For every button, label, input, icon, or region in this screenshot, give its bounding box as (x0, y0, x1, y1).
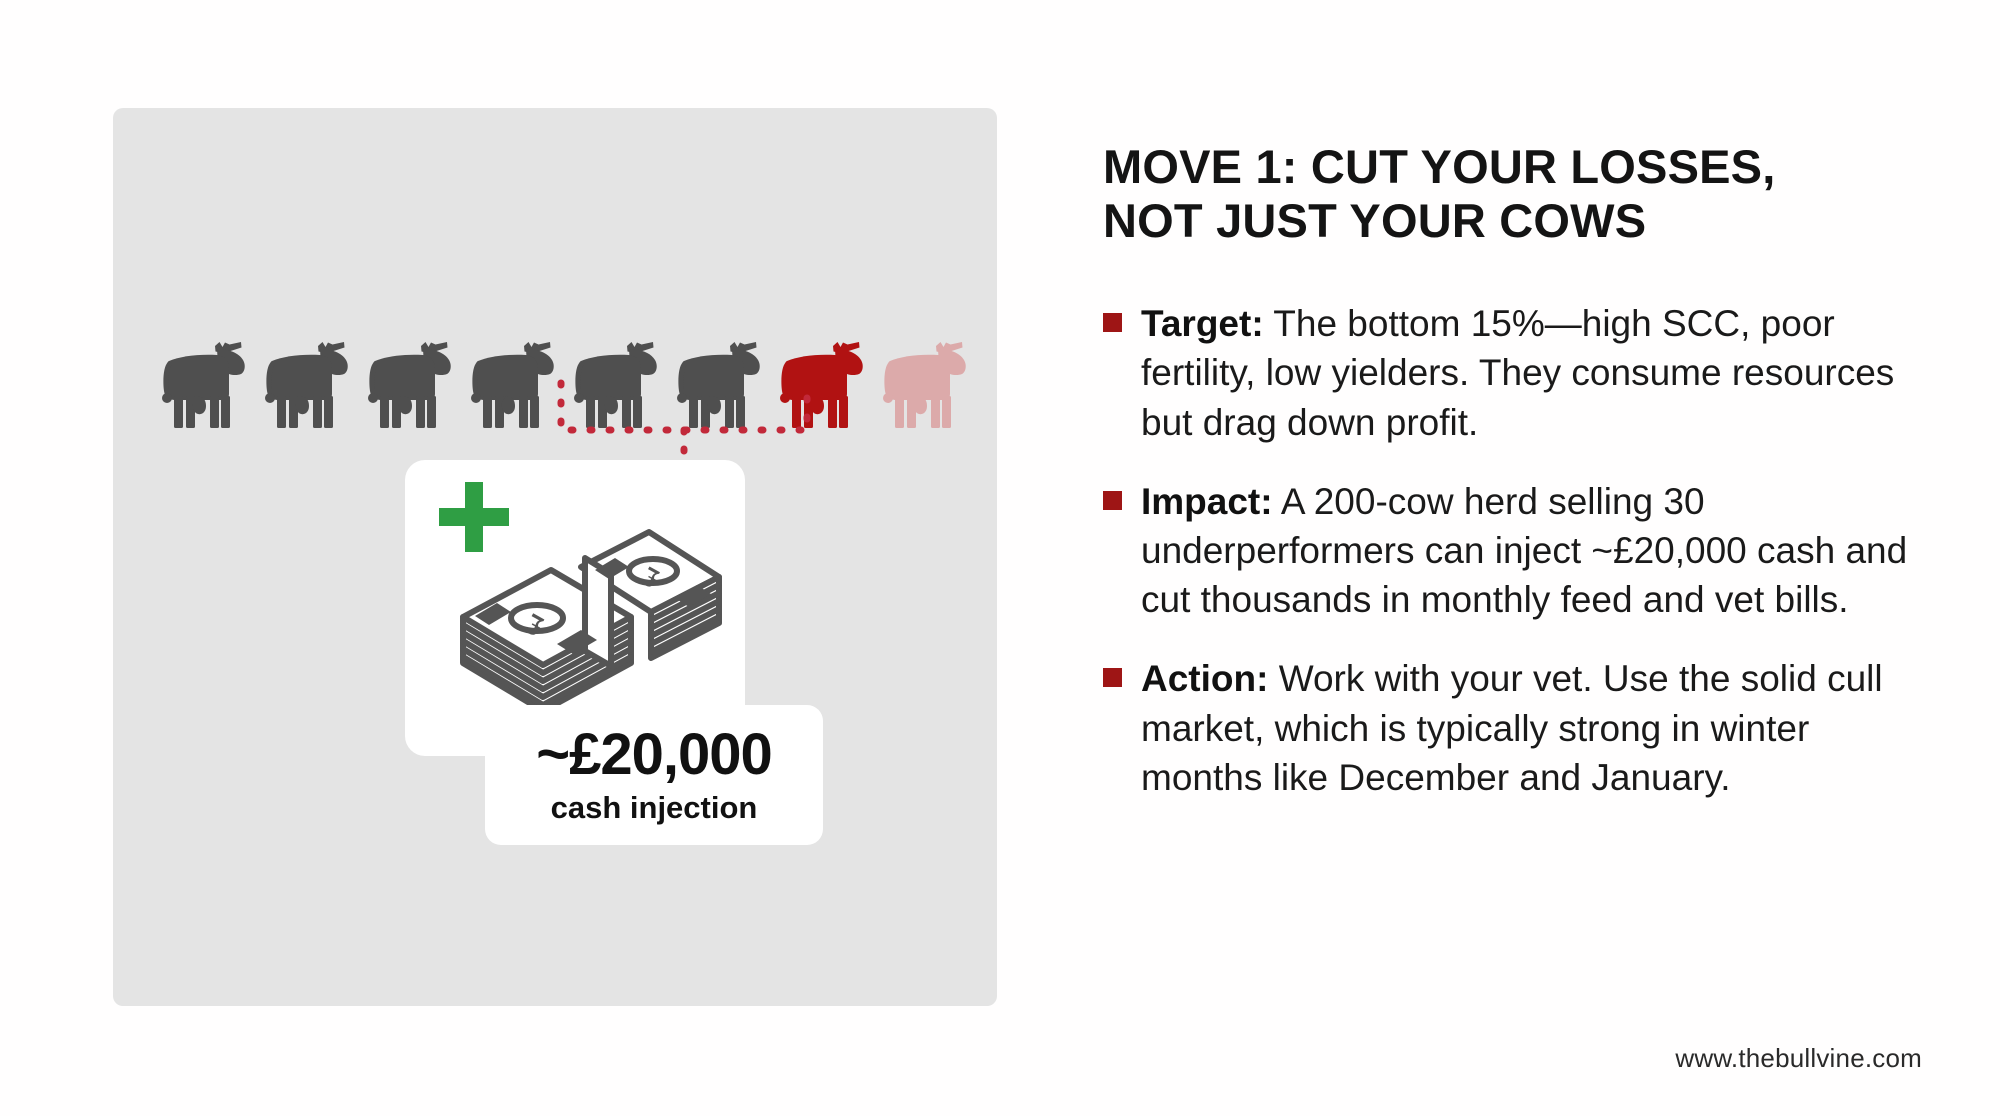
cow-1-keep (155, 330, 249, 434)
cow-5-keep (567, 330, 661, 434)
bullet-text: Target: The bottom 15%—high SCC, poor fe… (1141, 299, 1913, 447)
cow-silhouette (258, 330, 352, 434)
cow-silhouette (361, 330, 455, 434)
bullet-list: Target: The bottom 15%—high SCC, poor fe… (1103, 299, 1913, 802)
bullet-label: Impact: (1141, 481, 1273, 522)
cow-2-keep (258, 330, 352, 434)
cow-3-keep (361, 330, 455, 434)
cow-8-cull-faded (876, 330, 970, 434)
bullet-text: Action: Work with your vet. Use the soli… (1141, 654, 1913, 802)
text-column: MOVE 1: CUT YOUR LOSSES, NOT JUST YOUR C… (1103, 140, 1913, 832)
slide-canvas: £ £ ~£20,000 cash injection MOVE 1: CUT … (0, 0, 2000, 1116)
bullet-item-impact: Impact: A 200-cow herd selling 30 underp… (1103, 477, 1913, 625)
bullet-item-target: Target: The bottom 15%—high SCC, poor fe… (1103, 299, 1913, 447)
cow-6-keep (670, 330, 764, 434)
cow-silhouette (670, 330, 764, 434)
cash-sublabel: cash injection (551, 791, 758, 825)
cow-silhouette (155, 330, 249, 434)
visual-panel: £ £ ~£20,000 cash injection (113, 108, 997, 1006)
cash-amount-label: ~£20,000 (536, 725, 772, 784)
cow-silhouette (773, 330, 867, 434)
bullet-item-action: Action: Work with your vet. Use the soli… (1103, 654, 1913, 802)
footer-url: www.thebullvine.com (1675, 1043, 1922, 1074)
heading-line-1: MOVE 1: CUT YOUR LOSSES, (1103, 140, 1776, 193)
cow-silhouette (464, 330, 558, 434)
cow-silhouette (876, 330, 970, 434)
bullet-square-icon (1103, 668, 1122, 687)
bullet-square-icon (1103, 491, 1122, 510)
bullet-square-icon (1103, 313, 1122, 332)
cow-herd-row (155, 330, 975, 434)
cash-stack-icon: £ £ (453, 520, 725, 736)
heading-line-2: NOT JUST YOUR COWS (1103, 194, 1646, 247)
cow-4-keep (464, 330, 558, 434)
bullet-label: Target: (1141, 303, 1264, 344)
cow-7-cull-selected (773, 330, 867, 434)
cash-caption-card: ~£20,000 cash injection (485, 705, 823, 845)
page-title: MOVE 1: CUT YOUR LOSSES, NOT JUST YOUR C… (1103, 140, 1913, 247)
bullet-text: Impact: A 200-cow herd selling 30 underp… (1141, 477, 1913, 625)
cow-silhouette (567, 330, 661, 434)
bullet-label: Action: (1141, 658, 1268, 699)
